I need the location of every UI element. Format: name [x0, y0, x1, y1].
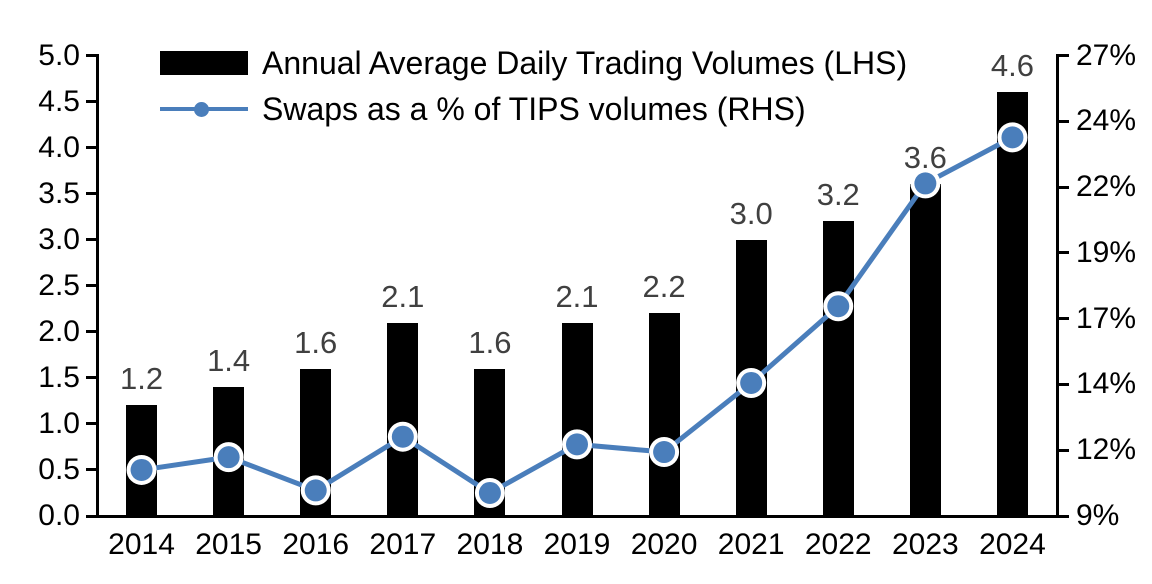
bar-swatch-icon	[160, 51, 248, 75]
bar	[910, 184, 941, 516]
bar-data-label: 1.4	[185, 345, 272, 376]
bar	[649, 313, 680, 516]
bar-data-label: 2.1	[533, 281, 620, 312]
bar-data-label: 1.6	[446, 327, 533, 358]
legend-item-bars-label: Annual Average Daily Trading Volumes (LH…	[262, 47, 907, 79]
chart-container: 0.00.51.01.52.02.53.03.54.04.55.0 9%12%1…	[0, 0, 1152, 584]
bar-data-label: 2.1	[359, 281, 446, 312]
chart-legend: Annual Average Daily Trading Volumes (LH…	[160, 40, 907, 132]
bar	[213, 387, 244, 516]
bar-data-label: 1.2	[98, 363, 185, 394]
legend-item-bars: Annual Average Daily Trading Volumes (LH…	[160, 40, 907, 86]
bar-data-label: 3.2	[795, 179, 882, 210]
bar	[300, 369, 331, 516]
legend-item-line-label: Swaps as a % of TIPS volumes (RHS)	[262, 93, 806, 125]
bar	[823, 221, 854, 516]
bar-data-label: 2.2	[621, 271, 708, 302]
bar-data-label: 4.6	[969, 50, 1056, 81]
legend-item-line: Swaps as a % of TIPS volumes (RHS)	[160, 86, 907, 132]
bar-data-label: 1.6	[272, 327, 359, 358]
bar	[736, 240, 767, 516]
bar-data-label: 3.0	[708, 198, 795, 229]
bar-data-label: 3.6	[882, 142, 969, 173]
bar	[474, 369, 505, 516]
line-dot-swatch-icon	[160, 97, 248, 121]
bar	[997, 92, 1028, 516]
bar	[562, 323, 593, 516]
bar	[126, 405, 157, 516]
bar	[387, 323, 418, 516]
